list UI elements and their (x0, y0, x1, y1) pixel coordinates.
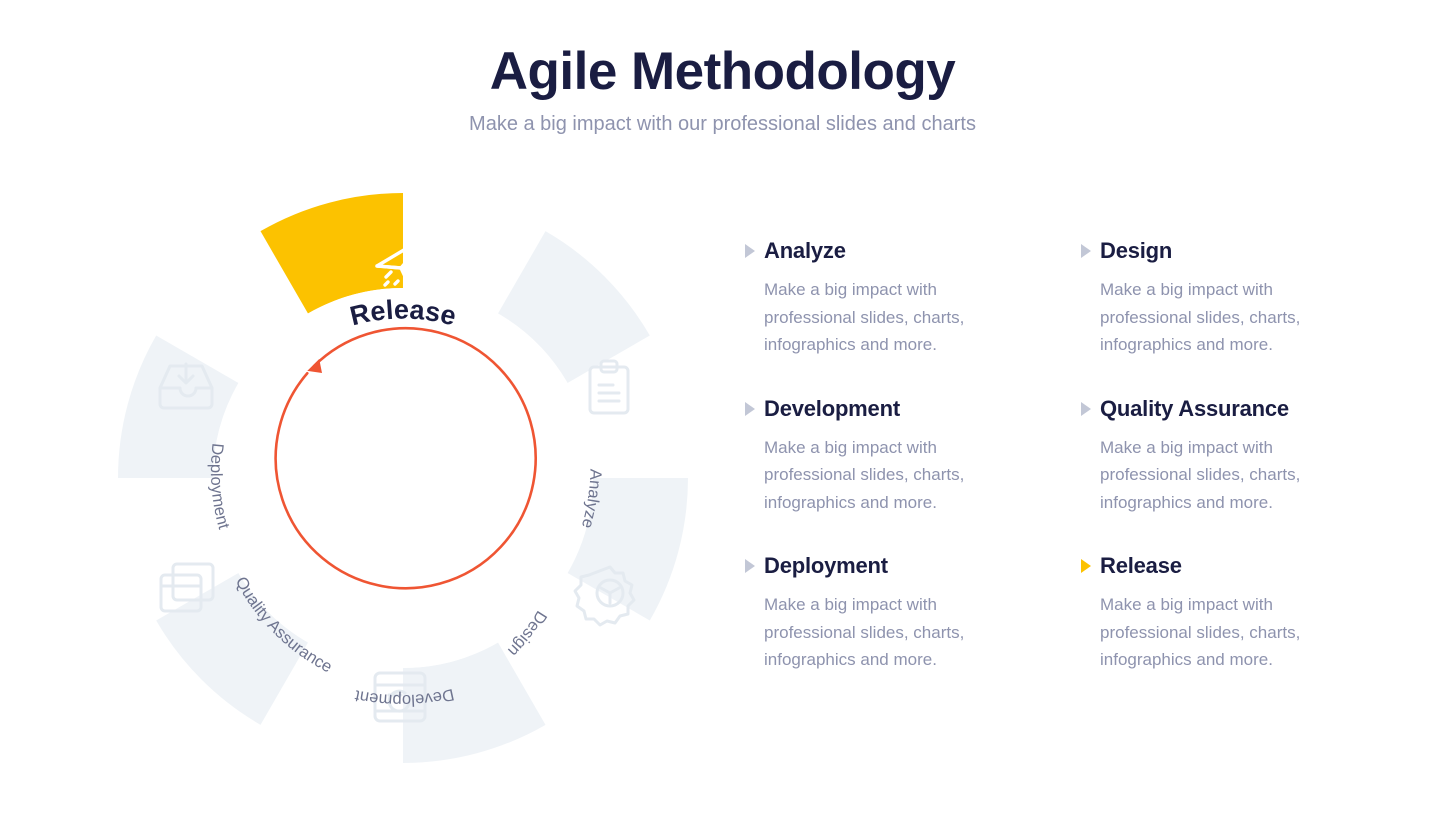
legend-item-quality-assurance[interactable]: Quality Assurance Make a big impact with… (1081, 396, 1393, 517)
legend-item-body: Make a big impact with professional slid… (1081, 276, 1345, 359)
legend-item-body: Make a big impact with professional slid… (745, 276, 1009, 359)
legend-head: Development (745, 396, 1057, 422)
triangle-bullet-icon (1081, 559, 1091, 573)
legend-item-title: Quality Assurance (1100, 396, 1289, 422)
legend-item-body: Make a big impact with professional slid… (745, 434, 1009, 517)
clipboard-icon (590, 361, 628, 413)
legend-head: Analyze (745, 238, 1057, 264)
legend-head: Quality Assurance (1081, 396, 1393, 422)
legend-item-body: Make a big impact with professional slid… (745, 591, 1009, 674)
legend-item-release[interactable]: Release Make a big impact with professio… (1081, 553, 1393, 674)
legend-item-title: Design (1100, 238, 1172, 264)
page-header: Agile Methodology Make a big impact with… (0, 0, 1445, 136)
legend-item-body: Make a big impact with professional slid… (1081, 434, 1345, 517)
legend-item-body: Make a big impact with professional slid… (1081, 591, 1345, 674)
legend-item-development[interactable]: Development Make a big impact with profe… (745, 396, 1057, 517)
legend-item-deployment[interactable]: Deployment Make a big impact with profes… (745, 553, 1057, 674)
legend-head: Deployment (745, 553, 1057, 579)
legend-item-title: Analyze (764, 238, 846, 264)
agile-cycle-diagram: Release Analyze Design Development Quali… (103, 178, 703, 778)
legend-item-analyze[interactable]: Analyze Make a big impact with professio… (745, 238, 1057, 359)
legend-item-design[interactable]: Design Make a big impact with profession… (1081, 238, 1393, 359)
legend-item-title: Development (764, 396, 900, 422)
page-title: Agile Methodology (0, 44, 1445, 100)
triangle-bullet-icon (745, 402, 755, 416)
legend-list: Analyze Make a big impact with professio… (745, 238, 1395, 711)
triangle-bullet-icon (745, 559, 755, 573)
triangle-bullet-icon (1081, 244, 1091, 258)
legend-head: Design (1081, 238, 1393, 264)
triangle-bullet-icon (1081, 402, 1091, 416)
page-subtitle: Make a big impact with our professional … (0, 113, 1445, 136)
legend-item-title: Deployment (764, 553, 888, 579)
legend-head: Release (1081, 553, 1393, 579)
legend-item-title: Release (1100, 553, 1182, 579)
triangle-bullet-icon (745, 244, 755, 258)
